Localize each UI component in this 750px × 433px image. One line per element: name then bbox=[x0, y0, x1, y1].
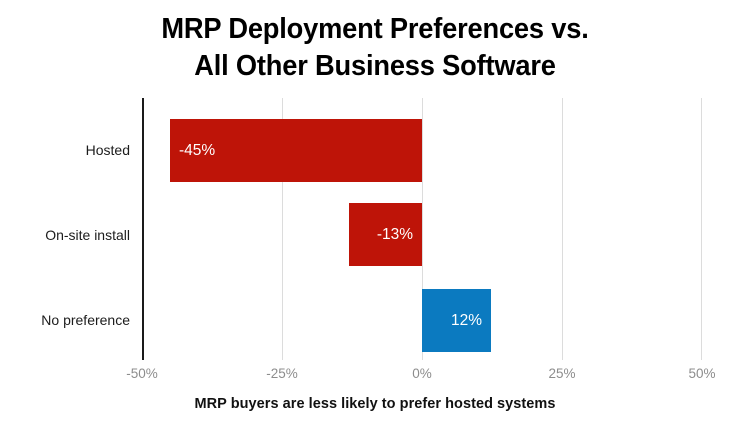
category-label-on-site-install: On-site install bbox=[45, 227, 130, 243]
xtick-label-minus-25: -25% bbox=[242, 366, 322, 382]
xtick-label-minus-50: -50% bbox=[102, 366, 182, 382]
bar-no-preference[interactable]: 12% bbox=[422, 289, 491, 352]
bar-on-site-install[interactable]: -13% bbox=[349, 203, 422, 266]
bar-value-hosted: -45% bbox=[170, 143, 215, 159]
chart-title-line-1: MRP Deployment Preferences vs. bbox=[23, 11, 728, 48]
category-label-hosted: Hosted bbox=[86, 142, 130, 158]
xtick-label-50: 50% bbox=[662, 366, 742, 382]
chart-title-line-2: All Other Business Software bbox=[23, 48, 728, 85]
bar-chart: MRP Deployment Preferences vs. All Other… bbox=[0, 0, 750, 433]
xtick-label-zero: 0% bbox=[382, 366, 462, 382]
chart-title: MRP Deployment Preferences vs. All Other… bbox=[23, 11, 728, 85]
bar-value-no-preference: 12% bbox=[451, 313, 491, 329]
plot-area: -45% -13% 12% bbox=[142, 98, 702, 360]
y-axis-line bbox=[142, 98, 144, 360]
bar-hosted[interactable]: -45% bbox=[170, 119, 422, 182]
category-label-no-preference: No preference bbox=[41, 312, 130, 328]
xtick-label-25: 25% bbox=[522, 366, 602, 382]
bar-value-on-site-install: -13% bbox=[377, 227, 422, 243]
gridline-25 bbox=[562, 98, 563, 360]
gridline-50 bbox=[701, 98, 702, 360]
chart-caption: MRP buyers are less likely to prefer hos… bbox=[0, 395, 750, 413]
